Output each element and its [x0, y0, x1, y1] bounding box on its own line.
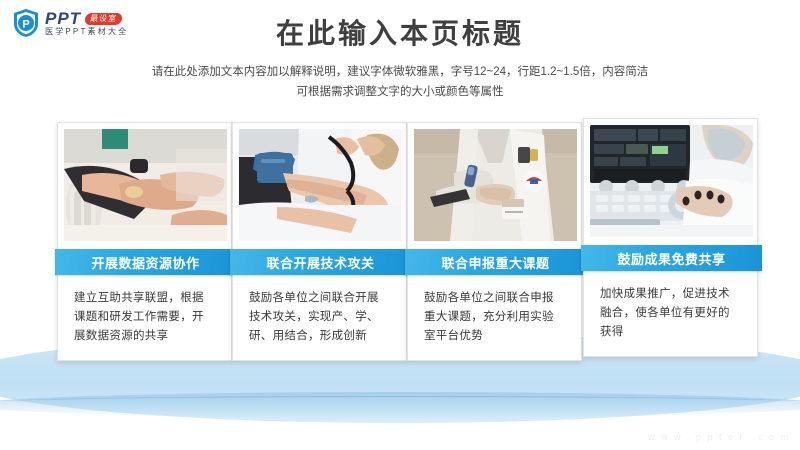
card-body-text: 建立互助共享联盟，根据课题和研发工作需要，开展数据资源的共享: [64, 279, 225, 360]
page-subtitle: 请在此处添加文本内容加以解释说明，建议字体微软雅黑，字号12~24，行距1.2~…: [0, 62, 800, 102]
card-banner: 联合申报重大课题: [405, 249, 586, 275]
card-item[interactable]: 联合申报重大课题 鼓励各单位之间联合申报重大课题，充分利用实验室平台优势: [407, 122, 582, 361]
hands-examination-photo: [64, 129, 227, 241]
subtitle-line-1: 请在此处添加文本内容加以解释说明，建议字体微软雅黑，字号12~24，行距1.2~…: [0, 62, 800, 82]
brand-name: PPT: [45, 10, 81, 27]
blood-pressure-measurement-photo: [239, 129, 402, 241]
card-banner-wrap: 开展数据资源协作: [64, 249, 225, 279]
site-watermark: w w w . p p t e r . c o m: [648, 432, 790, 442]
card-body-text: 加快成果推广，促进技术融合，使各单位有更好的获得: [590, 275, 751, 356]
brand-logo: P PPT 最设室 医学PPT素材大全: [12, 8, 128, 38]
card-banner-wrap: 联合申报重大课题: [414, 249, 575, 279]
card-body-text: 鼓励各单位之间联合申报重大课题，充分利用实验室平台优势: [414, 279, 575, 360]
brand-badge: 最设室: [84, 13, 123, 25]
card-item[interactable]: 开展数据资源协作 建立互助共享联盟，根据课题和研发工作需要，开展数据资源的共享: [57, 122, 232, 361]
svg-text:P: P: [22, 18, 29, 30]
subtitle-line-2: 可根据需求调整文字的大小或颜色等属性: [0, 82, 800, 102]
brand-tagline: 医学PPT素材大全: [45, 28, 128, 36]
card-item[interactable]: 鼓励成果免费共享 加快成果推广，促进技术融合，使各单位有更好的获得: [583, 118, 758, 357]
card-banner-wrap: 联合开展技术攻关: [239, 249, 400, 279]
brand-logo-text: PPT 最设室 医学PPT素材大全: [45, 10, 128, 36]
card-body-text: 鼓励各单位之间联合开展技术攻关，实现产、学、研、用结合，形成创新: [239, 279, 400, 360]
shield-icon: P: [12, 8, 40, 38]
ultrasound-console-photo: [590, 125, 753, 237]
doctor-white-coat-photo: [414, 129, 577, 241]
card-banner: 开展数据资源协作: [55, 249, 236, 275]
card-banner: 鼓励成果免费共享: [581, 245, 762, 271]
card-item[interactable]: 联合开展技术攻关 鼓励各单位之间联合开展技术攻关，实现产、学、研、用结合，形成创…: [232, 122, 407, 361]
card-banner-wrap: 鼓励成果免费共享: [590, 245, 751, 275]
card-banner: 联合开展技术攻关: [230, 249, 411, 275]
